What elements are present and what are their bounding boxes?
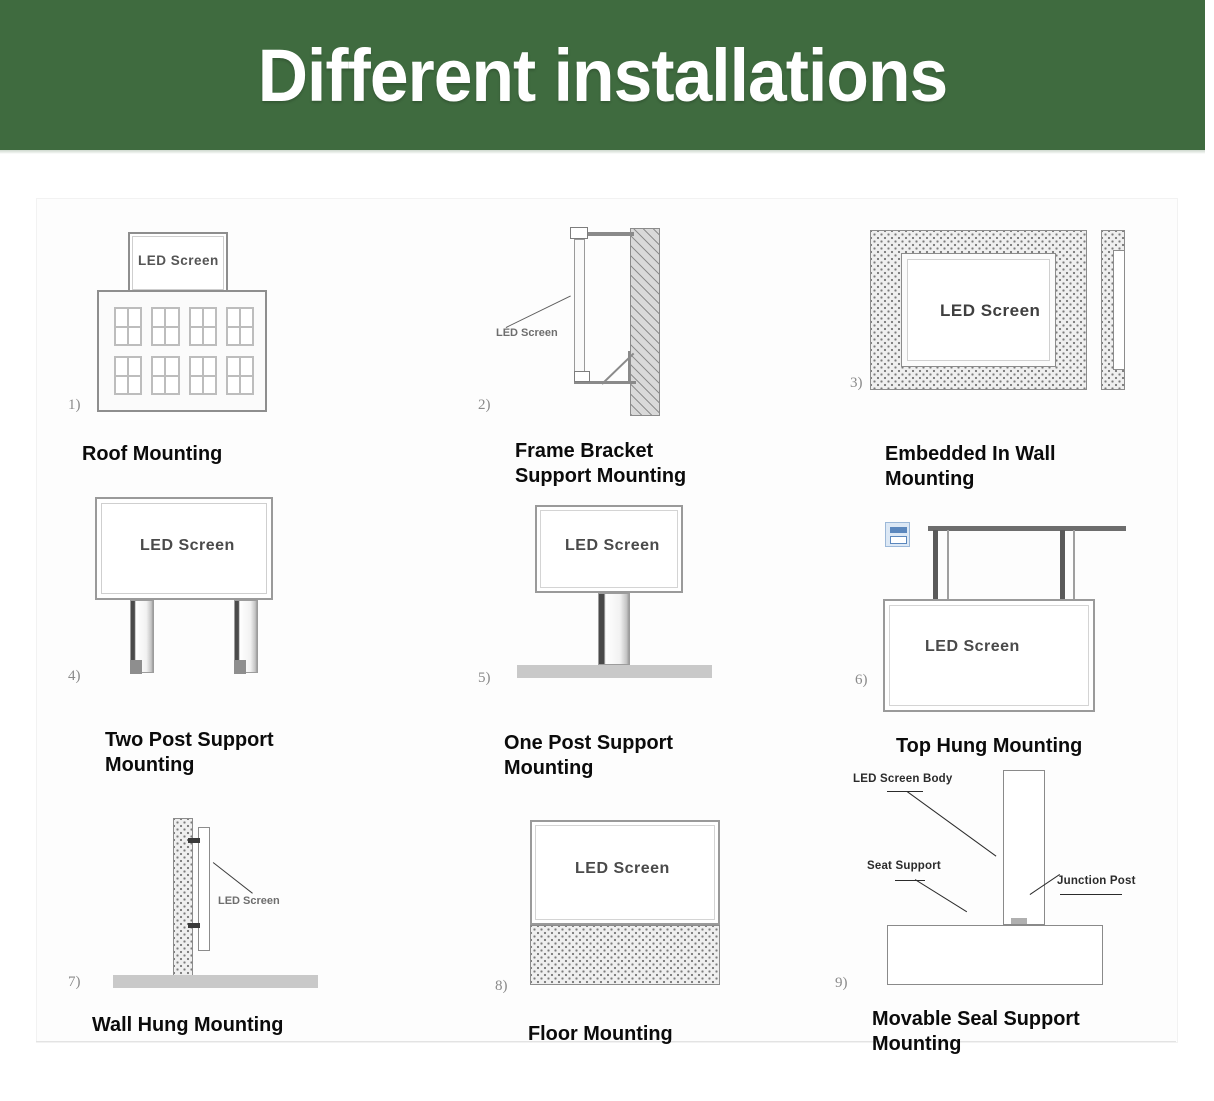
figure-index: 2) (478, 397, 491, 414)
leader-line (506, 296, 571, 329)
caption-roof-mounting: Roof Mounting (82, 441, 373, 466)
building-window (151, 356, 179, 395)
figure-index: 3) (850, 375, 863, 392)
bottom-bracket-joint (574, 371, 590, 382)
figure-cell-one-post: LED Screen 5) (470, 495, 800, 745)
caption-movable-seal: Movable Seal Support Mounting (872, 1006, 1192, 1056)
led-screen-panel (198, 827, 210, 951)
figure-index: 8) (495, 978, 508, 995)
figure-index: 9) (835, 975, 848, 992)
building-window (114, 356, 142, 395)
building-window (189, 356, 217, 395)
roof-screen-text: LED Screen (138, 253, 219, 268)
seat-support-base (887, 925, 1103, 985)
screen-callout-text: LED Screen (218, 895, 280, 907)
callout-led-screen-body: LED Screen Body (853, 773, 953, 785)
screen-text: LED Screen (140, 537, 235, 555)
side-recess-slot (1113, 250, 1125, 370)
leader-line-seat-support (915, 879, 967, 913)
page-title: Different installations (36, 0, 1169, 150)
wall-bracket-top (188, 838, 200, 843)
led-screen-body-post (1003, 770, 1045, 925)
caption-frame-bracket: Frame Bracket Support Mounting (515, 438, 835, 488)
figure-index: 4) (68, 668, 81, 685)
callout-underline-screen-body (887, 791, 923, 792)
figure-cell-roof-mounting: LED Screen 1) (60, 215, 390, 475)
caption-two-post: Two Post Support Mounting (105, 727, 415, 777)
figure-cell-top-hung: LED Screen 6) (855, 505, 1185, 755)
caption-wall-hung: Wall Hung Mounting (92, 1012, 402, 1037)
overhead-beam (928, 526, 1126, 531)
building-window (189, 307, 217, 346)
figure-cell-two-post: LED Screen 4) (60, 485, 390, 735)
screen-text: LED Screen (925, 638, 1020, 656)
post-foot-left (130, 660, 142, 674)
top-bracket-arm (582, 232, 634, 236)
figure-cell-frame-bracket: LED Screen 2) (470, 215, 800, 475)
hanger-left (933, 530, 938, 602)
hanger-right-inner (1073, 530, 1075, 602)
figure-index: 7) (68, 974, 81, 991)
caption-floor-mounting: Floor Mounting (528, 1021, 838, 1046)
callout-underline-junction-post (1060, 894, 1122, 895)
building-window (151, 307, 179, 346)
wall-bracket-bottom (188, 923, 200, 928)
screen-text: LED Screen (565, 537, 660, 555)
post-foot-right (234, 660, 246, 674)
leader-line-screen-body (907, 791, 997, 857)
figure-cell-movable-seal: LED Screen Body Seat Support Junction Po… (845, 760, 1185, 1010)
figure-cell-floor-mounting: LED Screen 8) (490, 800, 820, 1025)
wall-hatched (630, 228, 660, 416)
figure-cell-wall-hung: LED Screen 7) (85, 790, 415, 1015)
figure-cell-embedded-wall: LED Screen 3) (855, 225, 1185, 475)
figure-index: 1) (68, 397, 81, 414)
junction-detail (1011, 918, 1027, 924)
caption-embedded-wall: Embedded In Wall Mounting (885, 441, 1176, 491)
ground-slab (517, 665, 712, 678)
screen-callout-text: LED Screen (496, 327, 558, 339)
support-post-center (598, 593, 630, 665)
caption-top-hung: Top Hung Mounting (896, 733, 1206, 758)
led-screen-panel-side (574, 239, 585, 377)
figure-index: 5) (478, 670, 491, 687)
building-window-grid (114, 307, 254, 395)
ground-slab (113, 975, 318, 988)
callout-junction-post: Junction Post (1057, 875, 1136, 887)
figure-index: 6) (855, 672, 868, 689)
screen-text: LED Screen (575, 860, 670, 878)
caption-one-post: One Post Support Mounting (504, 730, 814, 780)
header-underline-divider (0, 150, 1205, 154)
leader-line (213, 862, 253, 894)
floor-plinth-base (530, 925, 720, 985)
embedded-screen-text: LED Screen (940, 301, 1040, 321)
callout-seat-support: Seat Support (867, 860, 941, 872)
building-window (226, 356, 254, 395)
hanger-right (1060, 530, 1065, 602)
hanger-left-inner (947, 530, 949, 602)
top-bracket-joint (570, 227, 588, 239)
brace-vertical (628, 351, 630, 384)
save-icon (885, 522, 910, 547)
building-window (114, 307, 142, 346)
building-window (226, 307, 254, 346)
callout-underline-seat-support (895, 880, 925, 881)
